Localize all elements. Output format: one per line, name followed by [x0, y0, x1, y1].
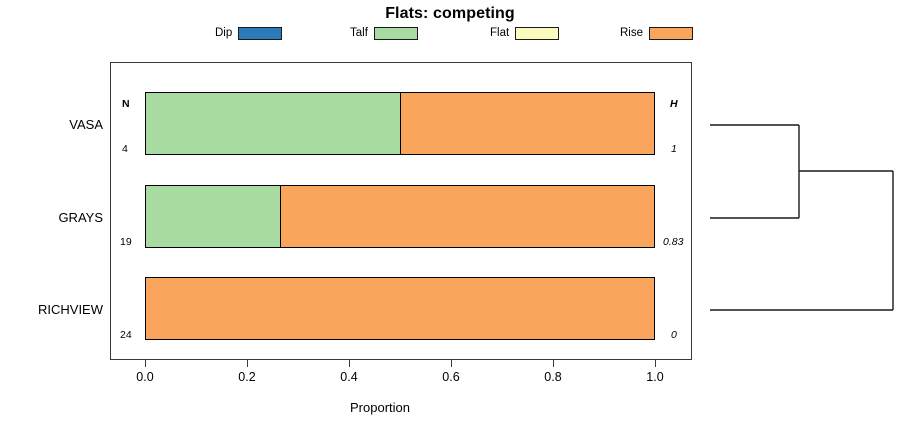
h-value-vasa: 1 [671, 143, 677, 155]
x-tick-label-3: 0.6 [442, 370, 459, 384]
x-tick-label-0: 0.0 [136, 370, 153, 384]
x-tick-5 [655, 360, 656, 367]
legend-swatch-rise [649, 27, 693, 40]
x-tick-label-5: 1.0 [646, 370, 663, 384]
legend-swatch-flat [515, 27, 559, 40]
legend-item-talf[interactable]: Talf [350, 25, 418, 41]
x-axis-label: Proportion [0, 400, 760, 415]
n-value-vasa: 4 [122, 143, 128, 155]
legend-item-dip[interactable]: Dip [215, 25, 282, 41]
column-header-h: H [670, 98, 678, 110]
bar-segment-vasa-talf[interactable] [146, 93, 400, 154]
legend-swatch-dip [238, 27, 282, 40]
chart-title: Flats: competing [0, 5, 900, 23]
legend-item-flat[interactable]: Flat [490, 25, 559, 41]
column-header-n: N [122, 98, 130, 110]
x-tick-1 [247, 360, 248, 367]
bar-segment-grays-talf[interactable] [146, 186, 280, 247]
legend-label-rise: Rise [620, 25, 643, 41]
legend-item-rise[interactable]: Rise [620, 25, 693, 41]
x-tick-4 [553, 360, 554, 367]
legend-label-dip: Dip [215, 25, 232, 41]
x-axis: 0.0 0.2 0.4 0.6 0.8 1.0 [110, 360, 692, 400]
bar-row-richview[interactable] [145, 277, 655, 340]
x-tick-label-2: 0.4 [340, 370, 357, 384]
dendrogram [700, 60, 900, 360]
row-label-vasa: VASA [0, 117, 103, 132]
legend-label-talf: Talf [350, 25, 368, 41]
bar-row-vasa[interactable] [145, 92, 655, 155]
x-tick-label-4: 0.8 [544, 370, 561, 384]
h-value-grays: 0.83 [663, 236, 683, 248]
x-tick-0 [145, 360, 146, 367]
bar-row-grays[interactable] [145, 185, 655, 248]
chart-canvas: Flats: competing Dip Talf Flat Rise VASA… [0, 0, 900, 440]
dendrogram-svg [700, 60, 900, 360]
bar-segment-vasa-rise[interactable] [400, 93, 654, 154]
n-value-grays: 19 [120, 236, 132, 248]
legend: Dip Talf Flat Rise [215, 25, 585, 41]
h-value-richview: 0 [671, 329, 677, 341]
legend-label-flat: Flat [490, 25, 509, 41]
x-tick-label-1: 0.2 [238, 370, 255, 384]
row-label-richview: RICHVIEW [0, 302, 103, 317]
bar-segment-richview-rise[interactable] [146, 278, 654, 339]
x-tick-3 [451, 360, 452, 367]
x-tick-2 [349, 360, 350, 367]
row-label-grays: GRAYS [0, 210, 103, 225]
bar-segment-grays-rise[interactable] [280, 186, 654, 247]
n-value-richview: 24 [120, 329, 132, 341]
legend-swatch-talf [374, 27, 418, 40]
